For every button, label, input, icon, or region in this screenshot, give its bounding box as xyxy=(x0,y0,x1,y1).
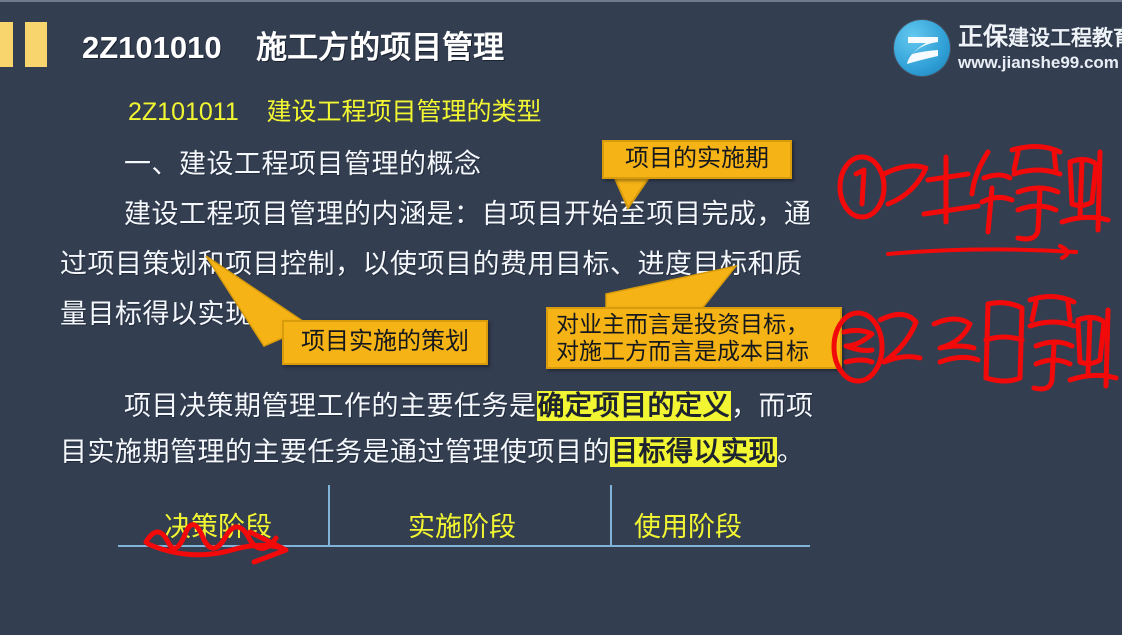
slide-canvas: 2Z101010 施工方的项目管理 2Z101011 建设工程项目管理的类型 正… xyxy=(0,0,1122,635)
table-cell-decision-stage: 决策阶段 xyxy=(164,505,272,544)
callout-implementation-period: 项目的实施期 xyxy=(602,140,792,179)
callout-3-line1: 对业主而言是投资目标， xyxy=(556,311,809,338)
callout-3-line2: 对施工方而言是成本目标 xyxy=(556,338,809,365)
accent-bar-right xyxy=(25,22,47,67)
logo-brand-name: 正保建设工程教育网 xyxy=(958,25,1122,50)
highlight-goal-realized: 目标得以实现 xyxy=(610,437,777,467)
concept-heading: 一、建设工程项目管理的概念 xyxy=(124,142,482,181)
brand-logo: 正保建设工程教育网 www.jianshe99.com xyxy=(894,16,1114,80)
table-divider-1 xyxy=(328,485,330,547)
paragraph1-line1: 建设工程项目管理的内涵是：自项目开始至项目完成，通 xyxy=(124,192,812,231)
paragraph1-line2: 过项目策划和项目控制，以使项目的费用目标、进度目标和质 xyxy=(60,242,803,281)
logo-text-block: 正保建设工程教育网 www.jianshe99.com xyxy=(958,25,1122,71)
page-title: 2Z101010 施工方的项目管理 xyxy=(82,22,504,67)
table-cell-usage-stage: 使用阶段 xyxy=(634,505,742,544)
z-circle-icon xyxy=(894,20,950,76)
paragraph2-line2-prefix: 目实施期管理的主要任务是通过管理使项目的 xyxy=(60,437,610,467)
paragraph2-line2: 目实施期管理的主要任务是通过管理使项目的目标得以实现。 xyxy=(60,430,805,469)
logo-brand-primary: 正保 xyxy=(958,23,1008,51)
paragraph2-line2-suffix: 。 xyxy=(777,437,805,467)
paragraph2-line1: 项目决策期管理工作的主要任务是确定项目的定义，而项 xyxy=(124,384,814,423)
table-cell-implementation-stage: 实施阶段 xyxy=(408,505,516,544)
logo-brand-secondary: 建设工程教育网 xyxy=(1008,27,1122,50)
paragraph2-line1-suffix: ，而项 xyxy=(731,391,814,421)
callout-implementation-planning: 项目实施的策划 xyxy=(282,320,488,365)
logo-url: www.jianshe99.com xyxy=(958,54,1122,71)
table-baseline xyxy=(118,545,810,547)
table-divider-2 xyxy=(610,485,612,547)
paragraph2-line1-prefix: 项目决策期管理工作的主要任务是 xyxy=(124,391,537,421)
callout-owner-vs-contractor-goal: 对业主而言是投资目标， 对施工方而言是成本目标 xyxy=(546,307,842,369)
highlight-define-project: 确定项目的定义 xyxy=(537,391,732,421)
paragraph1-line3: 量目标得以实现。 xyxy=(60,292,280,331)
accent-bar-left xyxy=(0,22,13,67)
section-subtitle: 2Z101011 建设工程项目管理的类型 xyxy=(128,92,542,128)
